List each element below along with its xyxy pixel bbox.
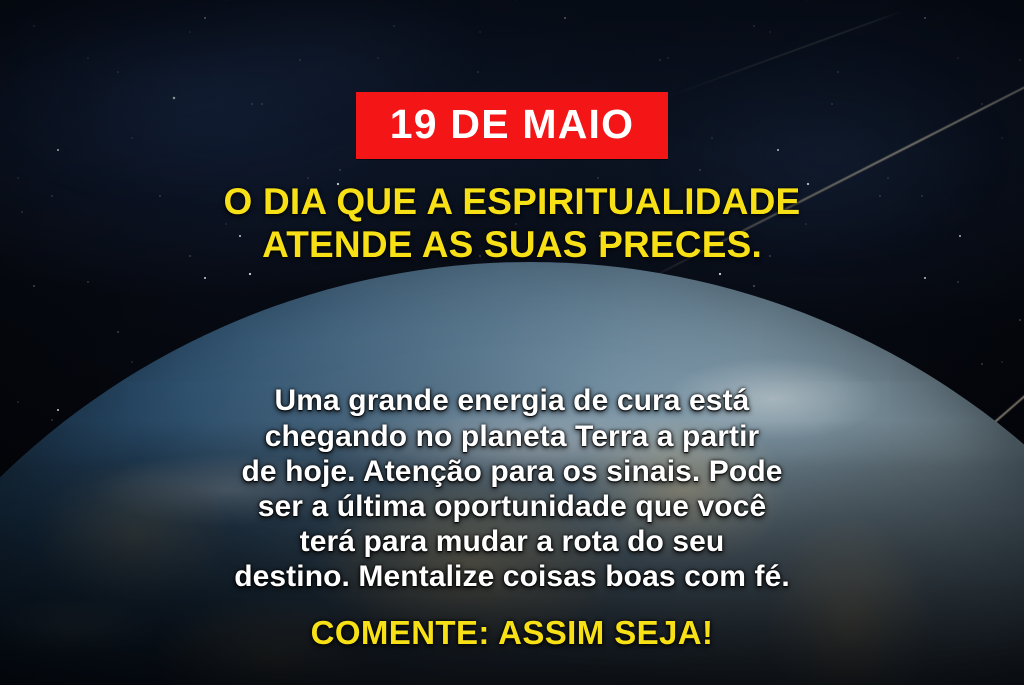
body-line-2: chegando no planeta Terra a partir <box>72 419 952 454</box>
body-line-6: destino. Mentalize coisas boas com fé. <box>72 559 952 594</box>
poster-canvas: 19 DE MAIO O DIA QUE A ESPIRITUALIDADE A… <box>0 0 1024 685</box>
body-line-1: Uma grande energia de cura está <box>72 383 952 418</box>
body-line-4: ser a última oportunidade que você <box>72 489 952 524</box>
body-copy: Uma grande energia de cura está chegando… <box>72 383 952 594</box>
headline-line-2: ATENDE AS SUAS PRECES. <box>62 224 962 267</box>
body-line-3: de hoje. Atenção para os sinais. Pode <box>72 454 952 489</box>
headline: O DIA QUE A ESPIRITUALIDADE ATENDE AS SU… <box>62 181 962 267</box>
call-to-action-text: COMENTE: ASSIM SEJA! <box>311 616 714 649</box>
headline-line-1: O DIA QUE A ESPIRITUALIDADE <box>62 181 962 224</box>
date-badge: 19 DE MAIO <box>356 92 668 159</box>
body-line-5: terá para mudar a rota do seu <box>72 524 952 559</box>
poster-content: 19 DE MAIO O DIA QUE A ESPIRITUALIDADE A… <box>0 0 1024 685</box>
